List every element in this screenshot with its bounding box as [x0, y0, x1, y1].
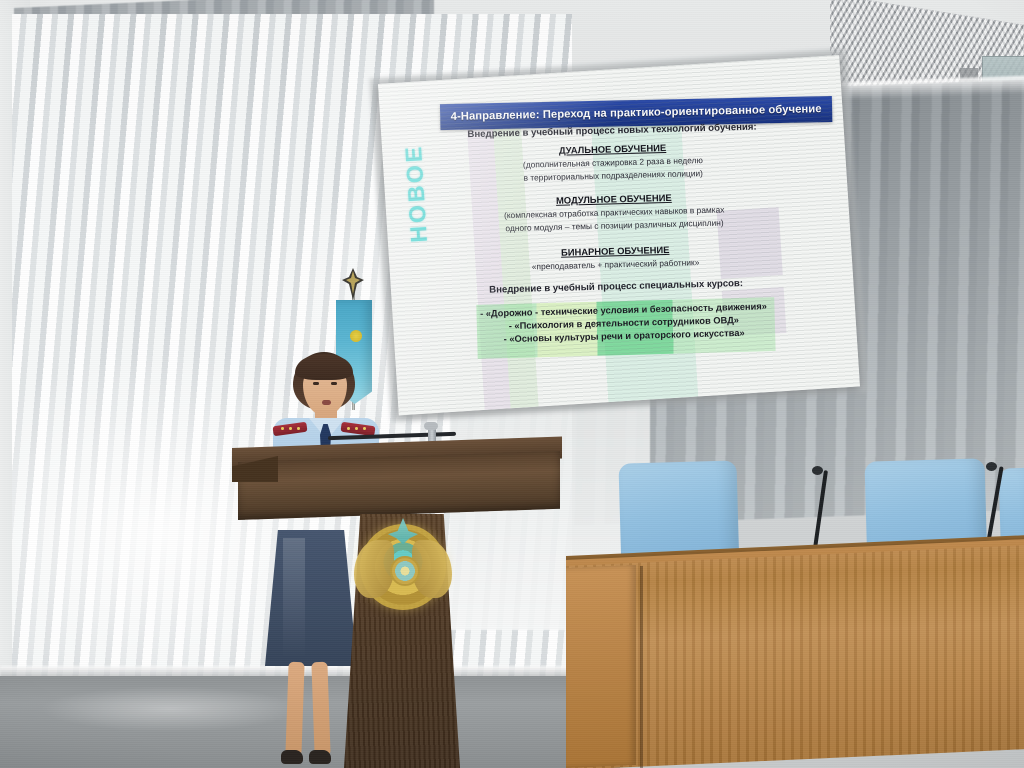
table-microphone-head [986, 462, 997, 471]
epaulette-star-icon [363, 427, 366, 430]
presentation-slide: 4-Направление: Переход на практико-ориен… [378, 55, 860, 415]
flag-sun-icon [350, 330, 362, 342]
speaker-eye [331, 382, 337, 385]
epaulette-star-icon [347, 427, 350, 430]
presidium-desk-seam [640, 566, 643, 768]
slide-lead-2: Внедрение в учебный процесс специальных … [385, 275, 847, 298]
epaulette-star-icon [281, 427, 284, 430]
speaker-eye [313, 382, 319, 385]
photo-scene: 4-Направление: Переход на практико-ориен… [0, 0, 1024, 768]
speaker-mouth [322, 400, 331, 405]
podium-microphone-knob [424, 422, 438, 430]
flag-finial-icon [340, 268, 366, 300]
podium [232, 448, 562, 768]
emblem-center-icon [390, 556, 420, 586]
speaker-hair-fringe [295, 354, 353, 380]
epaulette-star-icon [297, 427, 300, 430]
epaulette-star-icon [355, 427, 358, 430]
slide-body: Внедрение в учебный процесс новых технол… [381, 115, 850, 407]
projection-screen: 4-Направление: Переход на практико-ориен… [378, 55, 860, 415]
table-microphone-head [812, 466, 823, 475]
epaulette-star-icon [289, 427, 292, 430]
presidium-desk-side [566, 565, 636, 768]
podium-front-face [238, 451, 560, 520]
